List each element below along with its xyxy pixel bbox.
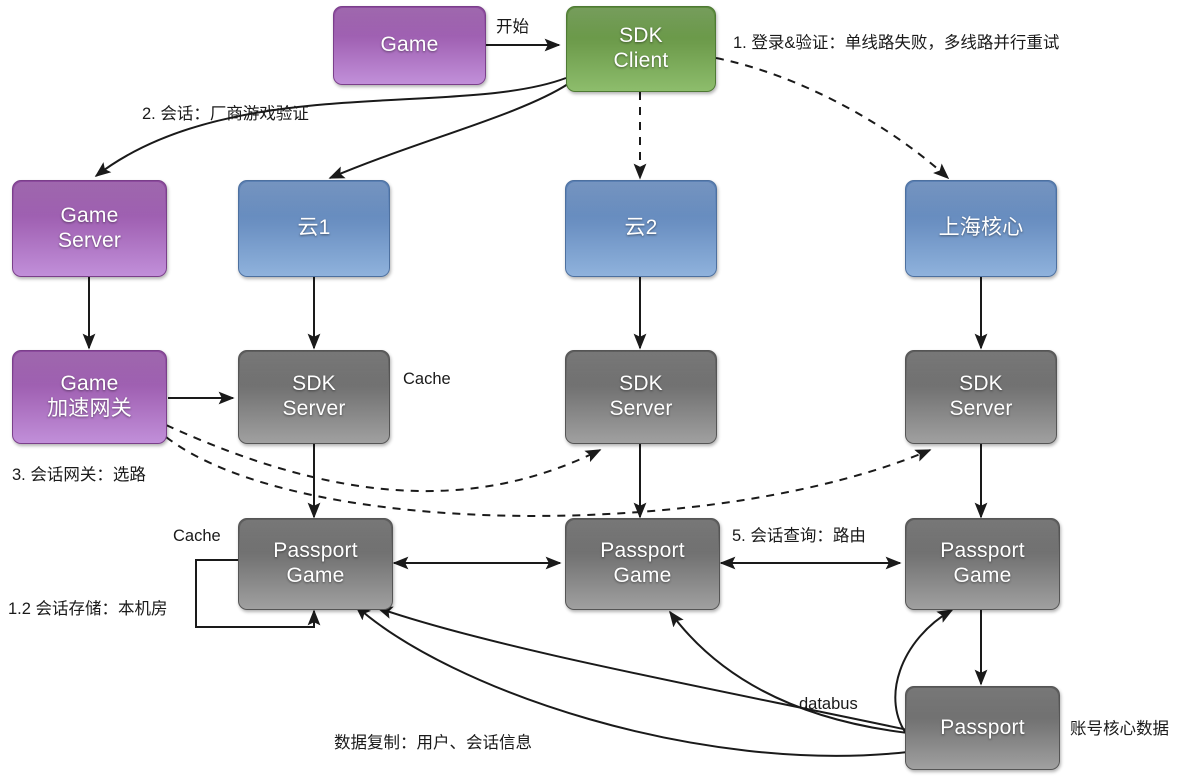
node-shanghai-core-label: 上海核心 bbox=[939, 216, 1024, 241]
edge-passport-to-passport-game-2 bbox=[670, 612, 908, 733]
edge-sdk-client-to-cloud1 bbox=[330, 84, 568, 178]
node-game-server-label: Game Server bbox=[58, 204, 121, 254]
node-cloud2[interactable]: 云2 bbox=[565, 180, 717, 277]
annotation-start: 开始 bbox=[496, 17, 529, 38]
annotation-step-2: 2. 会话：厂商游戏验证 bbox=[142, 104, 309, 125]
node-passport[interactable]: Passport bbox=[905, 686, 1060, 770]
annotation-data-replication: 数据复制：用户、会话信息 bbox=[334, 733, 532, 754]
node-passport-game-1-label: Passport Game bbox=[273, 539, 357, 589]
node-game-gateway[interactable]: Game 加速网关 bbox=[12, 350, 167, 444]
node-sdk-server-1[interactable]: SDK Server bbox=[238, 350, 390, 444]
node-sdk-server-2[interactable]: SDK Server bbox=[565, 350, 717, 444]
node-game[interactable]: Game bbox=[333, 6, 486, 85]
node-cloud1[interactable]: 云1 bbox=[238, 180, 390, 277]
node-sdk-server-1-label: SDK Server bbox=[282, 372, 345, 422]
edge-sdk-client-to-shanghai-core bbox=[716, 58, 948, 178]
annotation-step-3: 3. 会话网关：选路 bbox=[12, 465, 146, 486]
annotation-step-1: 1. 登录&验证：单线路失败，多线路并行重试 bbox=[733, 33, 1059, 54]
annotation-account-core-data: 账号核心数据 bbox=[1070, 719, 1169, 740]
node-game-gateway-label: Game 加速网关 bbox=[47, 372, 132, 422]
node-cloud2-label: 云2 bbox=[624, 216, 657, 241]
node-game-label: Game bbox=[381, 33, 439, 58]
node-passport-game-3-label: Passport Game bbox=[940, 539, 1024, 589]
node-game-server[interactable]: Game Server bbox=[12, 180, 167, 277]
node-passport-game-2[interactable]: Passport Game bbox=[565, 518, 720, 610]
node-sdk-server-3-label: SDK Server bbox=[949, 372, 1012, 422]
node-sdk-server-3[interactable]: SDK Server bbox=[905, 350, 1057, 444]
annotation-step-1-2: 1.2 会话存储：本机房 bbox=[8, 599, 168, 620]
annotation-cache-sdk-server: Cache bbox=[403, 369, 451, 390]
annotation-databus: databus bbox=[799, 694, 858, 715]
edge-game-gateway-to-sdk-server-3 bbox=[166, 437, 930, 516]
edge-sdk-client-to-game-server bbox=[96, 78, 566, 176]
node-passport-label: Passport bbox=[940, 716, 1024, 741]
node-sdk-client[interactable]: SDK Client bbox=[566, 6, 716, 92]
node-passport-game-2-label: Passport Game bbox=[600, 539, 684, 589]
node-cloud1-label: 云1 bbox=[297, 216, 330, 241]
annotation-step-5: 5. 会话查询：路由 bbox=[732, 526, 866, 547]
node-sdk-server-2-label: SDK Server bbox=[609, 372, 672, 422]
node-passport-game-1[interactable]: Passport Game bbox=[238, 518, 393, 610]
node-shanghai-core[interactable]: 上海核心 bbox=[905, 180, 1057, 277]
node-passport-game-3[interactable]: Passport Game bbox=[905, 518, 1060, 610]
architecture-diagram: Game SDK Client Game Server 云1 云2 上海核心 G… bbox=[0, 0, 1193, 777]
node-sdk-client-label: SDK Client bbox=[614, 24, 669, 74]
annotation-cache-passport-game: Cache bbox=[173, 526, 221, 547]
